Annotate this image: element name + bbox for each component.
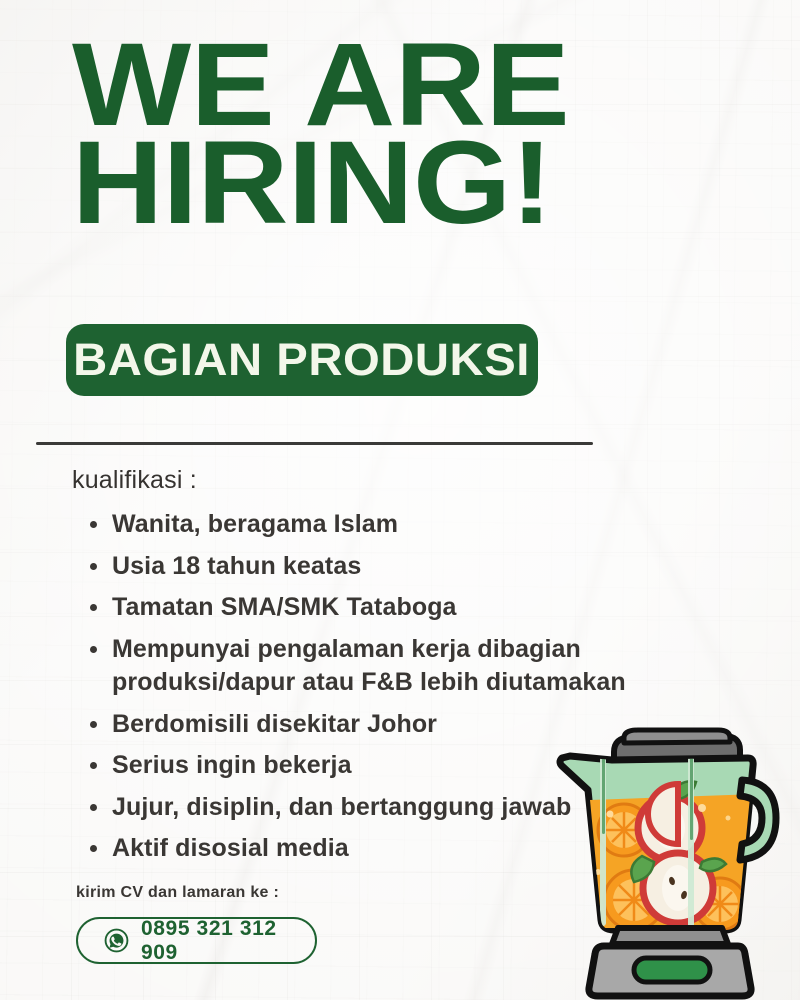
headline-line-2: HIRING!: [72, 132, 757, 236]
contact-label: kirim CV dan lamaran ke :: [76, 884, 279, 902]
section-divider: [36, 442, 593, 445]
blender-power-button: [634, 958, 710, 982]
qualifications-heading: kualifikasi :: [72, 466, 197, 495]
blender-jar: [560, 744, 757, 930]
list-item: Usia 18 tahun keatas: [84, 550, 664, 584]
page-title: WE ARE HIRING!: [72, 34, 712, 236]
role-badge-label: BAGIAN PRODUKSI: [74, 334, 531, 386]
whatsapp-icon: [104, 928, 129, 953]
list-item: Mempunyai pengalaman kerja dibagian prod…: [84, 633, 664, 700]
phone-number: 0895 321 312 909: [141, 917, 315, 965]
role-badge: BAGIAN PRODUKSI: [66, 324, 538, 396]
list-item: Wanita, beragama Islam: [84, 508, 664, 542]
list-item: Tamatan SMA/SMK Tataboga: [84, 591, 664, 625]
blender-illustration: [552, 722, 800, 1000]
hiring-poster: WE ARE HIRING! BAGIAN PRODUKSI kualifika…: [0, 0, 800, 1000]
blender-base: [589, 928, 751, 996]
whatsapp-contact-button[interactable]: 0895 321 312 909: [76, 917, 317, 964]
